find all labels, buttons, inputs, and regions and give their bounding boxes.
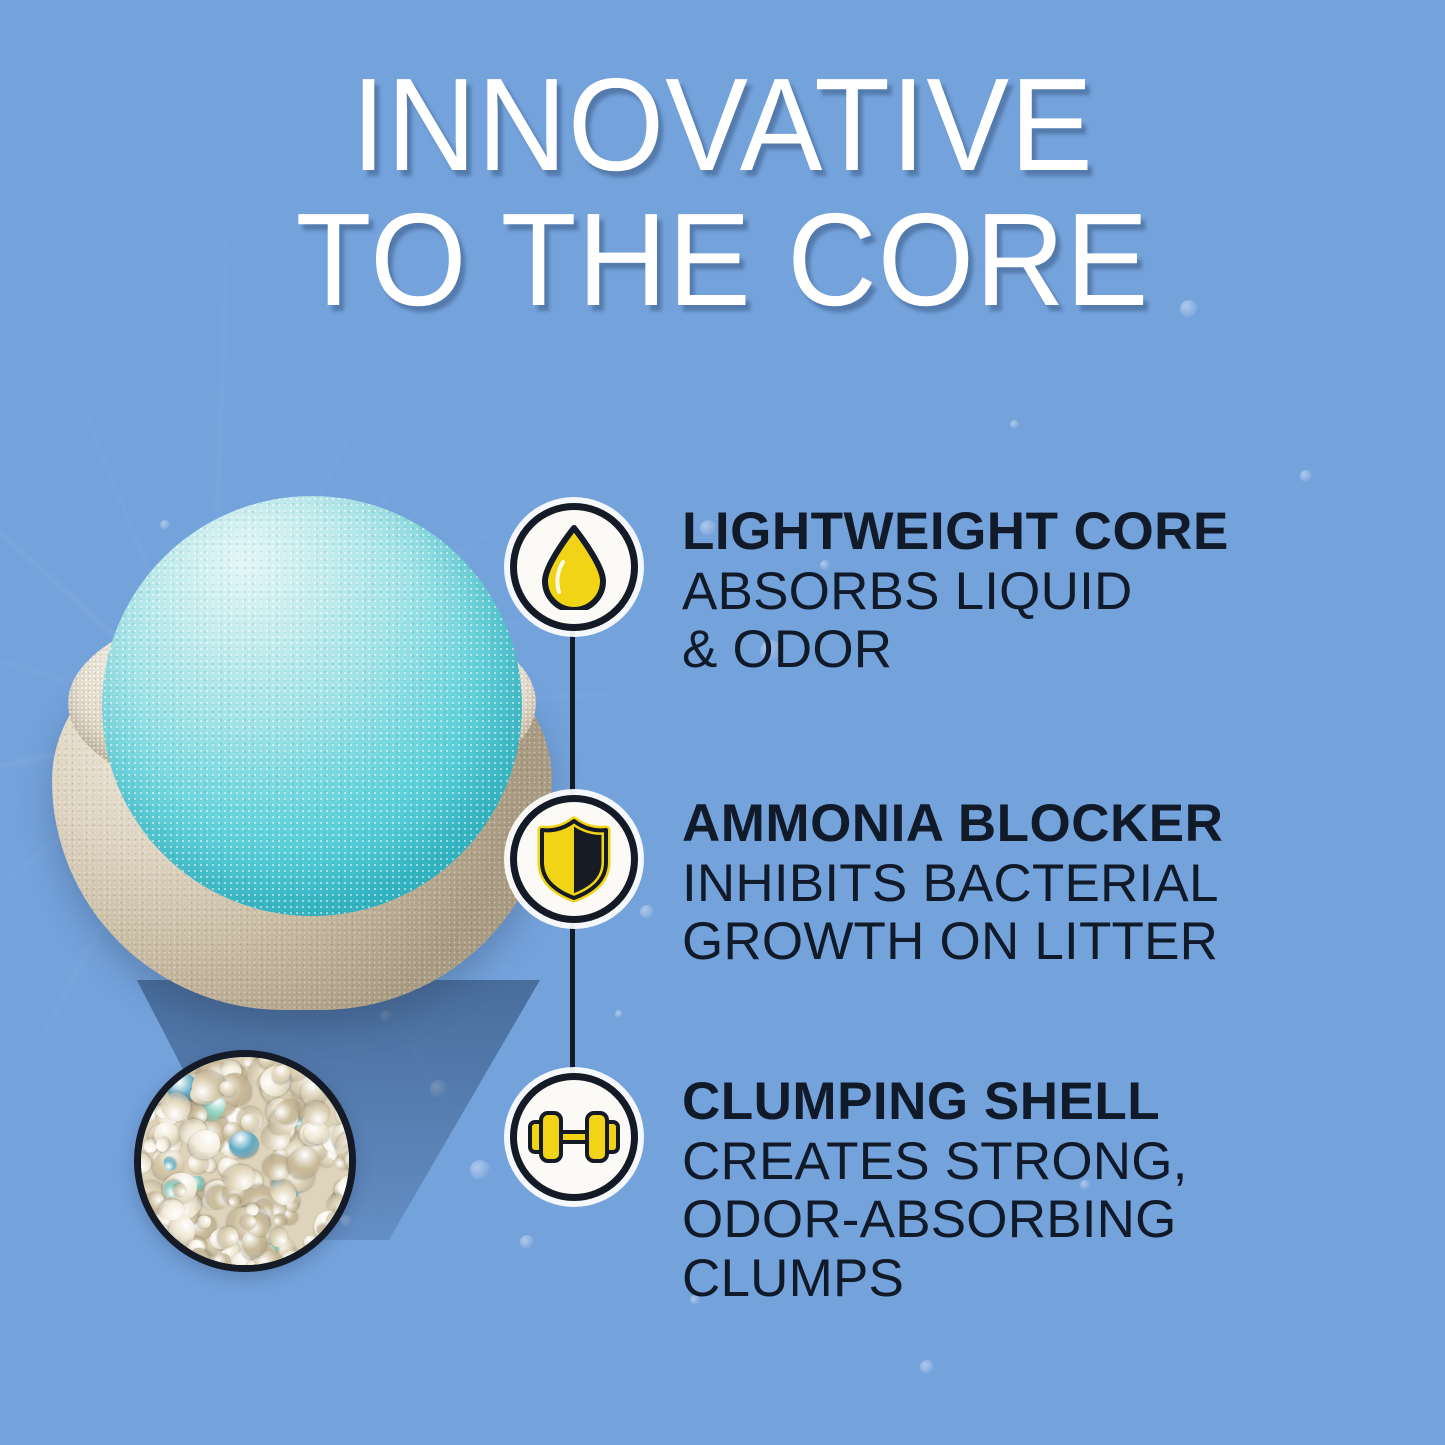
shield-icon — [510, 795, 638, 923]
feature-clumping-shell[interactable]: CLUMPING SHELL CREATES STRONG, ODOR-ABSO… — [510, 1073, 1188, 1308]
feature-heading: LIGHTWEIGHT CORE — [682, 505, 1229, 559]
feature-body: INHIBITS BACTERIAL GROWTH ON LITTER — [682, 855, 1223, 972]
infographic-canvas: INNOVATIVE TO THE CORE LIGHTWEIGHT CORE … — [0, 0, 1445, 1445]
droplet-icon — [510, 503, 638, 631]
feature-text: CLUMPING SHELL CREATES STRONG, ODOR-ABSO… — [682, 1073, 1188, 1308]
connector-line-2 — [570, 918, 575, 1086]
feature-heading: AMMONIA BLOCKER — [682, 797, 1223, 851]
feature-heading: CLUMPING SHELL — [682, 1075, 1188, 1129]
dumbbell-icon — [510, 1073, 638, 1201]
feature-text: LIGHTWEIGHT CORE ABSORBS LIQUID & ODOR — [682, 503, 1229, 680]
connector-line-1 — [570, 625, 575, 805]
feature-body: ABSORBS LIQUID & ODOR — [682, 563, 1229, 680]
feature-list: LIGHTWEIGHT CORE ABSORBS LIQUID & ODOR A… — [0, 0, 1445, 1445]
feature-body: CREATES STRONG, ODOR-ABSORBING CLUMPS — [682, 1133, 1188, 1308]
feature-text: AMMONIA BLOCKER INHIBITS BACTERIAL GROWT… — [682, 795, 1223, 972]
feature-lightweight-core[interactable]: LIGHTWEIGHT CORE ABSORBS LIQUID & ODOR — [510, 503, 1229, 680]
feature-ammonia-blocker[interactable]: AMMONIA BLOCKER INHIBITS BACTERIAL GROWT… — [510, 795, 1223, 972]
